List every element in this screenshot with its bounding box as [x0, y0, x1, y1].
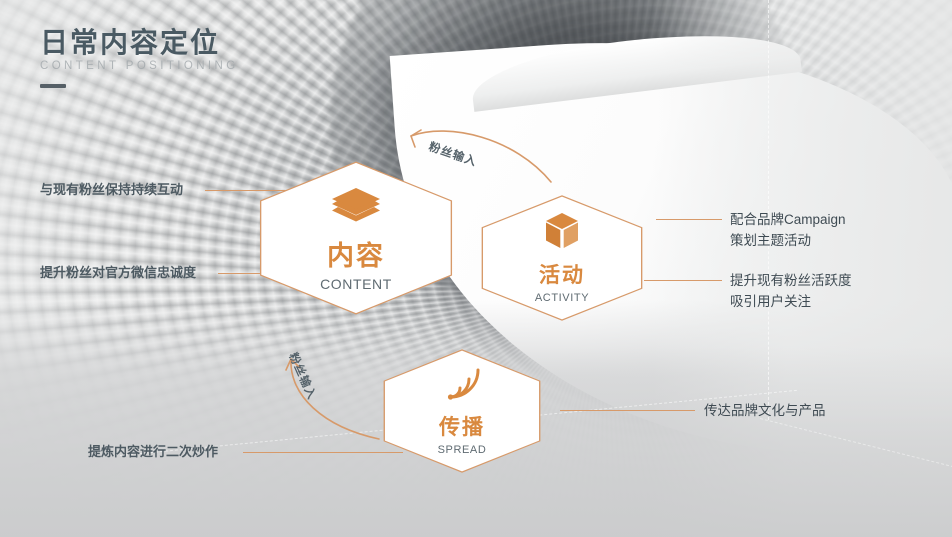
callout-right-mid-line1: 提升现有粉丝活跃度 — [730, 271, 852, 292]
node-content-en: CONTENT — [320, 277, 392, 291]
callout-right-bottom-text: 传达品牌文化与产品 — [704, 403, 826, 418]
callout-left-mid-text: 提升粉丝对官方微信忠诚度 — [40, 265, 196, 280]
leader-line-right-top — [656, 219, 722, 220]
broadcast-icon — [443, 366, 481, 407]
callout-right-mid-line2: 吸引用户关注 — [730, 292, 852, 313]
callout-right-top-line1: 配合品牌Campaign — [730, 210, 846, 231]
callout-left-top: 与现有粉丝保持持续互动 — [40, 180, 183, 200]
leader-line-left-bottom — [243, 452, 403, 453]
callout-left-mid: 提升粉丝对官方微信忠诚度 — [40, 263, 196, 283]
title-underline-dash — [40, 84, 66, 88]
layers-icon — [330, 186, 382, 233]
node-activity-en: ACTIVITY — [535, 293, 589, 304]
arrow-top-curve — [405, 120, 565, 200]
box-icon — [545, 212, 579, 255]
callout-right-bottom: 传达品牌文化与产品 — [704, 401, 826, 422]
page-subtitle: CONTENT POSITIONING — [40, 60, 239, 72]
node-content-zh: 内容 — [327, 243, 385, 270]
callout-left-top-text: 与现有粉丝保持持续互动 — [40, 182, 183, 197]
callout-right-top: 配合品牌Campaign 策划主题活动 — [730, 210, 846, 252]
callout-right-top-line2: 策划主题活动 — [730, 231, 846, 252]
callout-right-mid: 提升现有粉丝活跃度 吸引用户关注 — [730, 271, 852, 313]
node-activity-zh: 活动 — [539, 265, 585, 286]
page-title-block: 日常内容定位 CONTENT POSITIONING — [40, 28, 239, 88]
node-spread-zh: 传播 — [439, 417, 485, 438]
callout-left-bottom: 提炼内容进行二次炒作 — [88, 442, 218, 462]
slide-canvas: 日常内容定位 CONTENT POSITIONING 与现有粉丝保持持续互动 提… — [0, 0, 952, 537]
leader-line-right-mid — [644, 280, 722, 281]
node-spread-en: SPREAD — [438, 445, 487, 456]
leader-line-right-bottom — [560, 410, 695, 411]
callout-left-bottom-text: 提炼内容进行二次炒作 — [88, 444, 218, 459]
page-title: 日常内容定位 — [40, 28, 239, 57]
